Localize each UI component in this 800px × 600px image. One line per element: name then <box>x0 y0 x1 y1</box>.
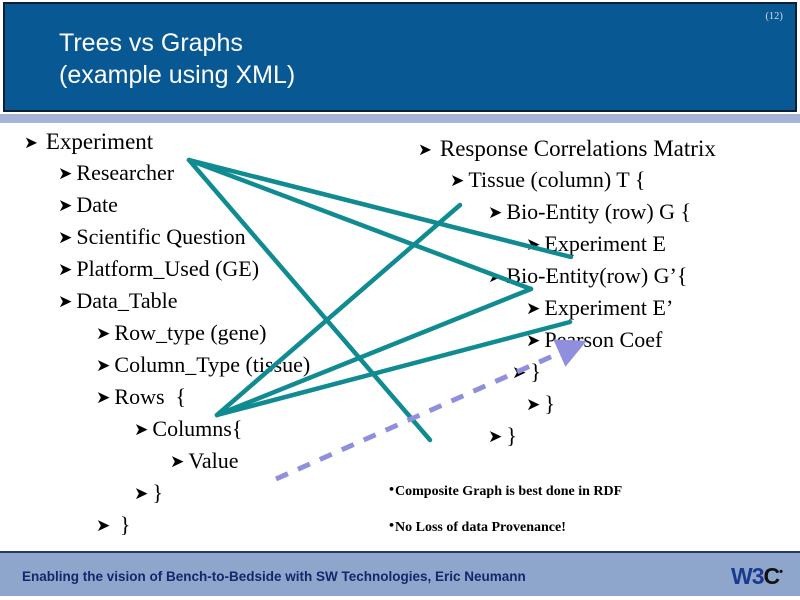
left-outline-item-label: Row_type (gene) <box>114 320 266 345</box>
left-outline-item: ➤Columns{ <box>18 414 408 446</box>
right-outline-item-label: Experiment E’ <box>544 295 673 320</box>
page-title: Trees vs Graphs (example using XML) <box>59 27 295 91</box>
arrow-bullet-icon: ➤ <box>96 388 114 408</box>
note-item-label: No Loss of data Provenance! <box>395 520 566 535</box>
left-outline-item-label: Rows { <box>114 384 186 409</box>
left-outline-item: ➤Value <box>18 446 408 478</box>
arrow-bullet-icon: ➤ <box>24 133 46 152</box>
slide-number: (12) <box>766 11 783 22</box>
note-item: •No Loss of data Provenance! <box>388 517 768 537</box>
right-outline-item-label: Response Correlations Matrix <box>440 136 716 161</box>
footer-bar: Enabling the vision of Bench-to-Bedside … <box>0 551 800 598</box>
right-outline-item: ➤Response Correlations Matrix <box>410 134 800 165</box>
right-outline-tree: ➤Response Correlations Matrix➤Tissue (co… <box>410 134 800 453</box>
left-outline-item: ➤Date <box>18 190 408 222</box>
slide-title-bar: (12) Trees vs Graphs (example using XML) <box>3 2 797 112</box>
arrow-bullet-icon: ➤ <box>418 140 440 159</box>
left-outline-item-label: } <box>152 480 163 505</box>
w3c-logo: W3C• <box>731 563 782 590</box>
arrow-bullet-icon: ➤ <box>526 395 544 415</box>
arrow-bullet-icon: ➤ <box>512 363 530 383</box>
left-outline-item-label: Columns{ <box>152 416 242 441</box>
right-outline-item: ➤Experiment E’ <box>410 293 800 325</box>
right-outline-item-label: Bio-Entity(row) G’{ <box>506 263 687 288</box>
left-outline-item-label: Column_Type (tissue) <box>114 352 310 377</box>
slide-content: ➤Experiment➤Researcher➤Date➤Scientific Q… <box>0 123 800 548</box>
left-outline-item: ➤Column_Type (tissue) <box>18 350 408 382</box>
note-bullet-icon: • <box>388 519 395 532</box>
arrow-bullet-icon: ➤ <box>96 516 114 536</box>
left-outline-item-label: Platform_Used (GE) <box>76 256 259 281</box>
left-outline-item-label: } <box>114 512 130 537</box>
arrow-bullet-icon: ➤ <box>526 331 544 351</box>
right-outline-item-label: } <box>544 391 555 416</box>
left-outline-item-label: Value <box>188 448 238 473</box>
notes-list: •Composite Graph is best done in RDF•No … <box>388 481 768 553</box>
w3c-logo-c: C <box>764 563 780 589</box>
right-outline-item: ➤Tissue (column) T { <box>410 165 800 197</box>
left-outline-item: ➤Platform_Used (GE) <box>18 254 408 286</box>
left-outline-item: ➤Rows { <box>18 382 408 414</box>
arrow-bullet-icon: ➤ <box>58 228 76 248</box>
left-outline-item-label: Experiment <box>46 129 153 154</box>
left-outline-item: ➤Researcher <box>18 158 408 190</box>
right-outline-item-label: } <box>530 359 541 384</box>
note-bullet-icon: • <box>388 483 395 496</box>
arrow-bullet-icon: ➤ <box>488 267 506 287</box>
left-outline-item: ➤Experiment <box>18 127 408 158</box>
arrow-bullet-icon: ➤ <box>58 292 76 312</box>
note-item: •Composite Graph is best done in RDF <box>388 481 768 501</box>
left-outline-item: ➤Data_Table <box>18 286 408 318</box>
arrow-bullet-icon: ➤ <box>96 324 114 344</box>
left-outline-item: ➤Row_type (gene) <box>18 318 408 350</box>
right-outline-item: ➤Pearson Coef <box>410 325 800 357</box>
arrow-bullet-icon: ➤ <box>450 171 468 191</box>
right-outline-item: ➤} <box>410 421 800 453</box>
right-outline-item: ➤} <box>410 389 800 421</box>
arrow-bullet-icon: ➤ <box>134 420 152 440</box>
note-item-label: Composite Graph is best done in RDF <box>395 484 622 499</box>
arrow-bullet-icon: ➤ <box>488 203 506 223</box>
footer-bottom-edge <box>0 596 800 600</box>
header-accent-strip <box>0 114 800 123</box>
arrow-bullet-icon: ➤ <box>58 260 76 280</box>
right-outline-item: ➤} <box>410 357 800 389</box>
arrow-bullet-icon: ➤ <box>134 484 152 504</box>
left-outline-tree: ➤Experiment➤Researcher➤Date➤Scientific Q… <box>18 127 408 542</box>
left-outline-item: ➤Scientific Question <box>18 222 408 254</box>
right-outline-item: ➤Bio-Entity(row) G’{ <box>410 261 800 293</box>
arrow-bullet-icon: ➤ <box>488 427 506 447</box>
w3c-logo-w3: W3 <box>731 563 764 589</box>
left-outline-item-label: Data_Table <box>76 288 177 313</box>
left-outline-item: ➤ } <box>18 510 408 542</box>
arrow-bullet-icon: ➤ <box>170 452 188 472</box>
right-outline-item-label: Pearson Coef <box>544 327 662 352</box>
right-outline-item-label: Bio-Entity (row) G { <box>506 199 691 224</box>
arrow-bullet-icon: ➤ <box>58 196 76 216</box>
footer-tagline: Enabling the vision of Bench-to-Bedside … <box>22 569 526 584</box>
w3c-logo-dot: • <box>779 566 782 578</box>
left-outline-item-label: Scientific Question <box>76 224 245 249</box>
arrow-bullet-icon: ➤ <box>58 164 76 184</box>
arrow-bullet-icon: ➤ <box>526 299 544 319</box>
left-outline-item-label: Date <box>76 192 118 217</box>
right-outline-item-label: Tissue (column) T { <box>468 167 645 192</box>
right-outline-item: ➤Bio-Entity (row) G { <box>410 197 800 229</box>
left-outline-item-label: Researcher <box>76 160 174 185</box>
left-outline-item: ➤} <box>18 478 408 510</box>
right-outline-item: ➤Experiment E <box>410 229 800 261</box>
arrow-bullet-icon: ➤ <box>526 235 544 255</box>
arrow-bullet-icon: ➤ <box>96 356 114 376</box>
right-outline-item-label: Experiment E <box>544 231 666 256</box>
right-outline-item-label: } <box>506 423 517 448</box>
